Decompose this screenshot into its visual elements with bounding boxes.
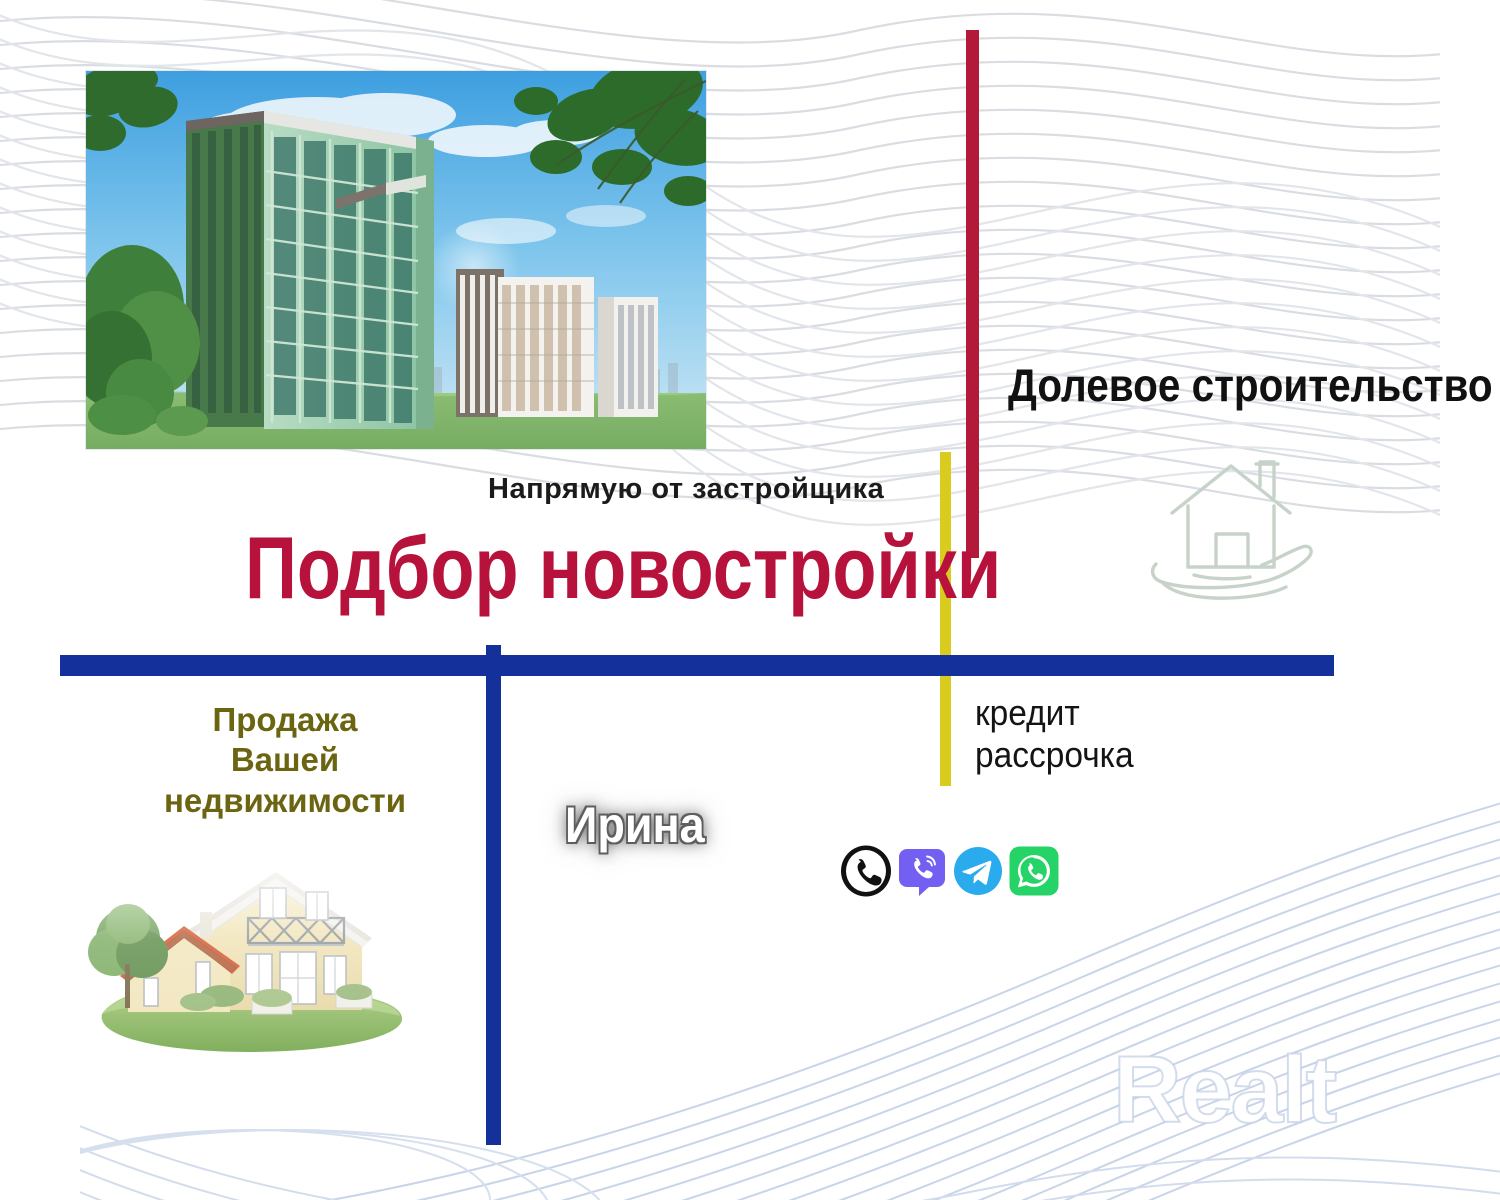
sell-property-line-1: Продажа Вашей (155, 700, 415, 781)
financing-label: кредит рассрочка (975, 692, 1134, 777)
sell-property-line-2: недвижимости (155, 781, 415, 821)
financing-line-2: рассрочка (975, 734, 1134, 776)
red-vertical-rule (966, 30, 979, 558)
blue-vertical-rule (486, 645, 501, 1145)
agent-name: Ирина (565, 796, 705, 854)
sell-property-label: Продажа Вашей недвижимости (155, 700, 415, 821)
new-apartment-buildings-photo (86, 71, 706, 449)
whatsapp-icon[interactable] (1008, 845, 1060, 897)
realty-advert-poster: Realt (0, 0, 1500, 1200)
house-in-hand-icon (1136, 448, 1326, 608)
phone-icon[interactable] (840, 845, 892, 897)
shared-construction-label: Долевое строительство (1008, 362, 1493, 408)
page-title: Подбор новостройки (245, 524, 1001, 612)
realt-watermark: Realt (1113, 1043, 1335, 1138)
financing-line-1: кредит (975, 692, 1134, 734)
blue-horizontal-rule (60, 655, 1334, 676)
contact-icons-row (840, 845, 1060, 897)
cottage-house-photo (80, 838, 420, 1063)
telegram-icon[interactable] (952, 845, 1004, 897)
viber-icon[interactable] (896, 845, 948, 897)
yellow-vertical-rule (940, 452, 951, 786)
kicker-text: Напрямую от застройщика (488, 473, 884, 506)
